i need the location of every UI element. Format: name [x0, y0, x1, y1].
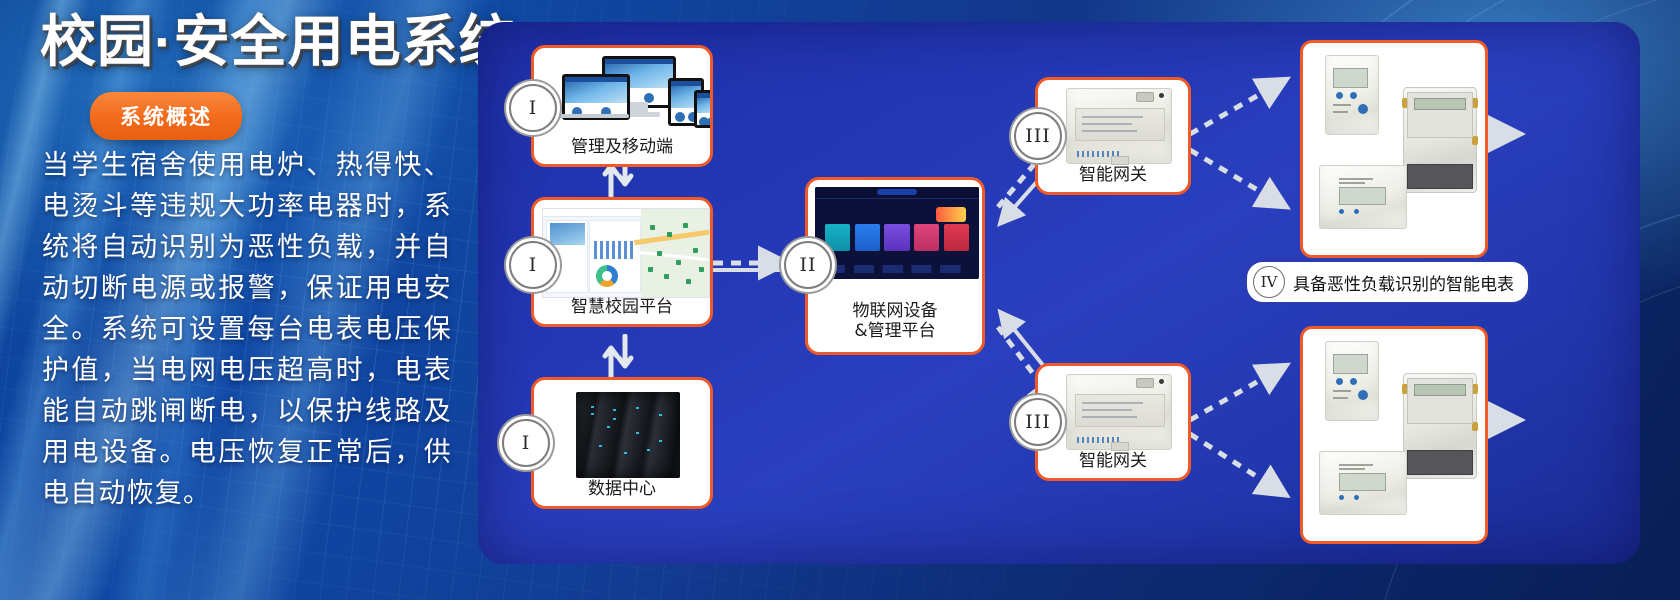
node-smart-campus-label: 智慧校园平台	[534, 297, 710, 318]
badge-iot-platform: II	[784, 241, 832, 289]
node-iot-platform-label-line2: &管理平台	[808, 321, 982, 342]
phone-screenshot	[694, 90, 713, 128]
din-rail-meter-bottom	[1319, 451, 1407, 515]
server-rack-image	[576, 392, 680, 478]
intro-column: 校园·安全用电系统 系统概述 当学生宿舍使用电炉、热得快、电烫斗等违规大功率电器…	[32, 0, 462, 600]
node-gateway-top-label: 智能网关	[1038, 165, 1188, 186]
node-smart-campus[interactable]: 智慧校园平台	[531, 197, 713, 327]
smart-meter-callout-chip[interactable]: IV 具备恶性负载识别的智能电表	[1245, 260, 1530, 304]
campus-platform-screenshot	[542, 208, 710, 298]
node-admin-mobile-label: 管理及移动端	[534, 137, 710, 158]
node-data-center-label: 数据中心	[534, 479, 710, 500]
three-phase-meter-bottom	[1403, 373, 1477, 479]
node-admin-mobile[interactable]: 管理及移动端	[531, 45, 713, 167]
badge-smart-meter: IV	[1253, 266, 1285, 298]
node-iot-platform[interactable]: 物联网设备 &管理平台	[805, 177, 985, 355]
panel-smart-meters-bottom[interactable]	[1300, 326, 1488, 544]
gateway-device-image-top	[1066, 88, 1172, 164]
gateway-device-image-bottom	[1066, 374, 1172, 450]
poster-stage: 校园·安全用电系统 系统概述 当学生宿舍使用电炉、热得快、电烫斗等违规大功率电器…	[0, 0, 1680, 600]
three-phase-meter-top	[1403, 87, 1477, 193]
architecture-diagram-panel: 管理及移动端 I 智慧校园平台 I	[478, 22, 1640, 564]
node-gateway-bottom-label: 智能网关	[1038, 451, 1188, 472]
single-phase-meter-top	[1325, 55, 1379, 135]
smart-meter-callout-label: 具备恶性负载识别的智能电表	[1293, 270, 1514, 295]
laptop-base	[557, 114, 629, 118]
node-iot-platform-label: 物联网设备 &管理平台	[808, 301, 982, 342]
badge-smart-campus: I	[509, 241, 557, 289]
single-phase-meter-bottom	[1325, 341, 1379, 421]
badge-data-center: I	[502, 419, 550, 467]
badge-gateway-top: III	[1014, 112, 1062, 160]
iot-platform-screenshot	[815, 187, 979, 279]
node-iot-platform-label-line1: 物联网设备	[808, 301, 982, 322]
badge-gateway-bottom: III	[1014, 398, 1062, 446]
badge-admin-mobile: I	[509, 84, 557, 132]
din-rail-meter-top	[1319, 165, 1407, 229]
system-description: 当学生宿舍使用电炉、热得快、电烫斗等违规大功率电器时，系统将自动识别为恶性负载，…	[42, 145, 452, 514]
node-data-center[interactable]: 数据中心	[531, 377, 713, 509]
page-title: 校园·安全用电系统	[40, 14, 516, 70]
connector-arrow-campus-datacenter	[601, 334, 635, 380]
panel-smart-meters-top[interactable]	[1300, 40, 1488, 258]
section-badge: 系统概述	[90, 92, 242, 140]
